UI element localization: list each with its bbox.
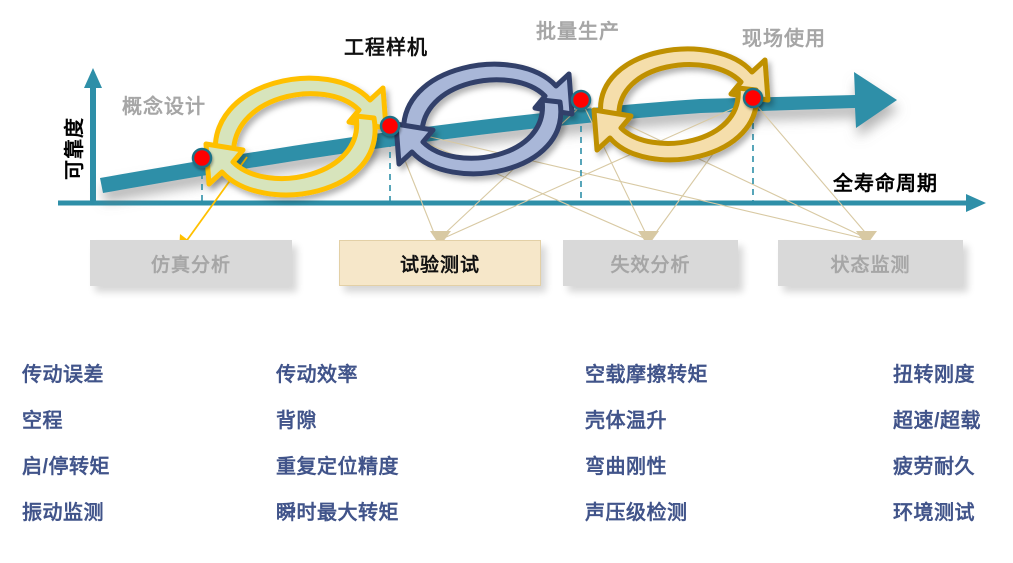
keyword-item: 环境测试: [893, 490, 1013, 536]
category-box-testing[interactable]: 试验测试: [339, 240, 541, 286]
milestone-dot-field: [744, 89, 762, 107]
keyword-column-2: 传动效率 背隙 重复定位精度 瞬时最大转矩: [276, 352, 506, 536]
keyword-item: 疲劳耐久: [893, 444, 1013, 490]
y-axis-title: 可靠度: [58, 117, 87, 180]
milestone-dot-production: [572, 91, 590, 109]
keyword-item: 启/停转矩: [22, 444, 252, 490]
keyword-item: 弯曲刚性: [585, 444, 815, 490]
category-box-label: 试验测试: [400, 250, 480, 277]
keyword-item: 传动效率: [276, 352, 506, 398]
keyword-item: 扭转刚度: [893, 352, 1013, 398]
milestone-dot-prototype: [381, 117, 399, 135]
category-box-label: 状态监测: [830, 250, 910, 277]
x-axis-arrowhead: [966, 194, 986, 212]
keyword-item: 超速/超载: [893, 398, 1013, 444]
milestone-label-prototype: 工程样机: [344, 31, 428, 60]
keyword-column-4: 扭转刚度 超速/超载 疲劳耐久 环境测试: [893, 352, 1013, 536]
keyword-item: 壳体温升: [585, 398, 815, 444]
keyword-item: 传动误差: [22, 352, 252, 398]
diagram-canvas: 概念设计 工程样机 批量生产 现场使用 可靠度 全寿命周期 仿真分析 试验测试 …: [0, 0, 1013, 563]
keyword-item: 重复定位精度: [276, 444, 506, 490]
category-box-condition-monitoring[interactable]: 状态监测: [778, 240, 963, 286]
keyword-item: 空程: [22, 398, 252, 444]
x-axis-title: 全寿命周期: [833, 167, 938, 196]
category-box-label: 失效分析: [610, 250, 690, 277]
milestone-label-concept: 概念设计: [122, 90, 206, 119]
category-box-simulation[interactable]: 仿真分析: [90, 240, 292, 286]
keyword-item: 背隙: [276, 398, 506, 444]
keyword-item: 声压级检测: [585, 490, 815, 536]
y-axis-arrowhead: [84, 68, 102, 88]
concept-to-prototype-loop: [206, 78, 386, 195]
keyword-item: 振动监测: [22, 490, 252, 536]
category-box-failure-analysis[interactable]: 失效分析: [563, 240, 738, 286]
prototype-to-production-loop: [396, 64, 572, 173]
keyword-item: 瞬时最大转矩: [276, 490, 506, 536]
keyword-column-3: 空载摩擦转矩 壳体温升 弯曲刚性 声压级检测: [585, 352, 815, 536]
milestone-label-production: 批量生产: [536, 15, 620, 44]
keyword-item: 空载摩擦转矩: [585, 352, 815, 398]
keyword-column-1: 传动误差 空程 启/停转矩 振动监测: [22, 352, 252, 536]
milestone-label-field: 现场使用: [742, 22, 826, 51]
category-box-label: 仿真分析: [151, 250, 231, 277]
keyword-grid: 传动误差 空程 启/停转矩 振动监测 传动效率 背隙 重复定位精度 瞬时最大转矩…: [0, 352, 1013, 563]
milestone-dot-concept: [193, 149, 211, 167]
